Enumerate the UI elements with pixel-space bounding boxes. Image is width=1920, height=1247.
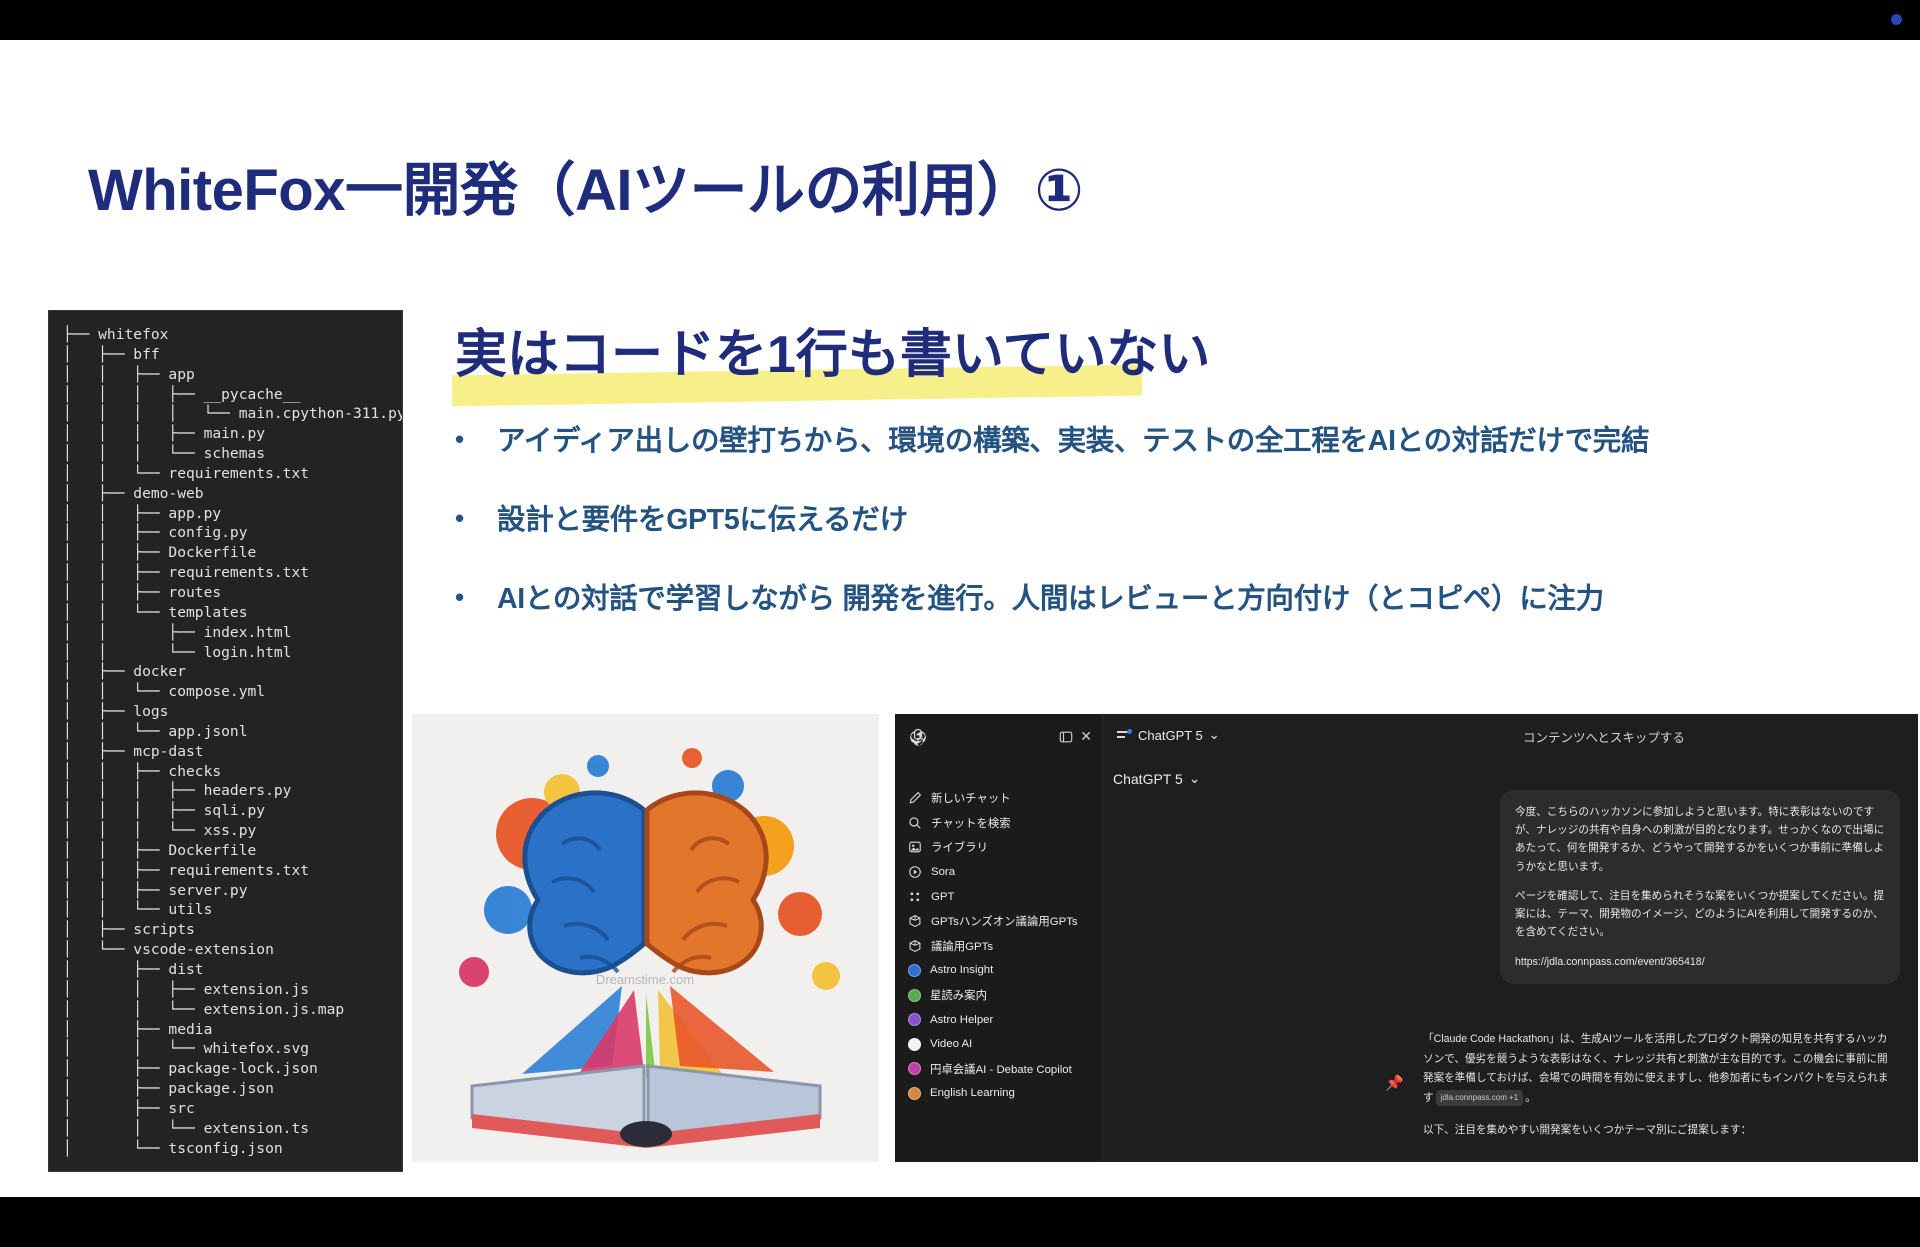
close-icon[interactable]: ✕ xyxy=(1080,728,1092,745)
sidebar-item-label: Sora xyxy=(931,866,955,878)
page-title: WhiteFox一開発（AIツールの利用）① xyxy=(88,143,1083,227)
slide-stage: WhiteFox一開発（AIツールの利用）① ├── whitefox │ ├─… xyxy=(0,0,1920,1247)
sidebar-item-label: 円卓会議AI - Debate Copilot xyxy=(930,1061,1072,1077)
assistant-message: 「Claude Code Hackathon」は、生成AIツールを活用したプロダ… xyxy=(1423,1030,1898,1154)
avatar-icon xyxy=(908,989,921,1002)
chatgpt-sidebar: ✕ 新しいチャットチャットを検索ライブラリSoraGPTGPTsハンズオン議論用… xyxy=(895,714,1103,1162)
avatar-icon xyxy=(908,964,921,977)
sidebar-controls[interactable]: ✕ xyxy=(1059,728,1092,745)
chatgpt-main-panel: ChatGPT 5 ⌄ コンテンツへとスキップする ChatGPT 5 ⌄ 今度… xyxy=(1103,714,1918,1162)
sidebar-item-label: GPT xyxy=(931,891,954,903)
bullet-item-3: • AIとの対話で学習しながら 開発を進行。人間はレビューと方向付け（とコピペ）… xyxy=(455,583,1885,616)
sidebar-item-label: 新しいチャット xyxy=(931,790,1011,806)
sidebar-item-1[interactable]: 新しいチャット xyxy=(895,786,1103,811)
bullet-marker-icon: • xyxy=(455,425,497,455)
sidebar-item-3[interactable]: ライブラリ xyxy=(895,835,1103,860)
sidebar-item-label: Astro Helper xyxy=(930,1014,993,1026)
sidebar-item-13[interactable]: English Learning xyxy=(895,1081,1103,1106)
new-chat-icon xyxy=(908,791,922,805)
brain-illustration-image: Dreamstime.com xyxy=(412,714,879,1162)
bullet-text-1: アイディア出しの壁打ちから、環境の構築、実装、テストの全工程をAIとの対話だけで… xyxy=(497,425,1649,458)
model-selector[interactable]: ChatGPT 5 ⌄ xyxy=(1117,727,1220,743)
brain-book-svg: Dreamstime.com xyxy=(412,714,879,1162)
sidebar-item-label: Video AI xyxy=(930,1038,972,1050)
sidebar-item-6[interactable]: GPTsハンズオン議論用GPTs xyxy=(895,909,1103,934)
sidebar-item-list: 新しいチャットチャットを検索ライブラリSoraGPTGPTsハンズオン議論用GP… xyxy=(895,786,1103,1106)
avatar-icon xyxy=(908,1038,921,1051)
sidebar-item-4[interactable]: Sora xyxy=(895,860,1103,885)
bullet-item-1: • アイディア出しの壁打ちから、環境の構築、実装、テストの全工程をAIとの対話だ… xyxy=(455,425,1885,458)
assistant-para-1: 「Claude Code Hackathon」は、生成AIツールを活用したプロダ… xyxy=(1423,1030,1898,1108)
slide-canvas: WhiteFox一開発（AIツールの利用）① ├── whitefox │ ├─… xyxy=(0,40,1920,1197)
sidebar-toggle-icon[interactable] xyxy=(1059,730,1073,744)
gpt-box-icon xyxy=(908,939,922,953)
sidebar-item-11[interactable]: Video AI xyxy=(895,1032,1103,1057)
sidebar-item-label: チャットを検索 xyxy=(931,815,1011,831)
gpt-grid-icon xyxy=(908,890,922,904)
skip-to-content-link[interactable]: コンテンツへとスキップする xyxy=(1523,727,1685,746)
file-tree-panel: ├── whitefox │ ├── bff │ │ ├── app │ │ │… xyxy=(48,310,403,1172)
bullet-marker-icon: • xyxy=(455,583,497,613)
openai-logo-icon xyxy=(908,727,928,747)
headline-wrapper: 実はコードを1行も書いていない xyxy=(455,312,1210,387)
model-name: ChatGPT 5 xyxy=(1138,728,1203,743)
user-message-bubble: 今度、こちらのハッカソンに参加しようと思います。特に表彰はないのですが、ナレッジ… xyxy=(1500,790,1900,984)
bullet-text-3: AIとの対話で学習しながら 開発を進行。人間はレビューと方向付け（とコピペ）に注… xyxy=(497,583,1604,616)
avatar-icon xyxy=(908,1062,921,1075)
sidebar-item-8[interactable]: Astro Insight xyxy=(895,958,1103,983)
chevron-down-icon[interactable]: ⌄ xyxy=(1209,727,1220,743)
assistant-para-1-post: 。 xyxy=(1525,1092,1536,1104)
sidebar-header: ✕ xyxy=(895,714,1102,760)
bullet-text-2: 設計と要件をGPT5に伝えるだけ xyxy=(497,504,908,537)
sidebar-item-10[interactable]: Astro Helper xyxy=(895,1007,1103,1032)
sidebar-item-label: GPTsハンズオン議論用GPTs xyxy=(931,913,1078,929)
sidebar-item-label: ライブラリ xyxy=(931,839,988,855)
source-chip[interactable]: jdla.connpass.com +1 xyxy=(1436,1090,1524,1107)
avatar-icon xyxy=(908,1087,921,1100)
sidebar-item-5[interactable]: GPT xyxy=(895,884,1103,909)
model-glyph-icon xyxy=(1117,729,1132,741)
avatar-icon xyxy=(908,1013,921,1026)
letterbox-bottom xyxy=(0,1197,1920,1247)
search-icon xyxy=(908,816,922,830)
sidebar-item-label: 星読み案内 xyxy=(930,987,987,1003)
library-icon xyxy=(908,840,922,854)
user-message-para-2: ページを確認して、注目を集められそうな案をいくつか提案してください。提案には、テ… xyxy=(1515,887,1885,942)
chevron-down-icon[interactable]: ⌄ xyxy=(1189,770,1201,787)
sidebar-item-label: 議論用GPTs xyxy=(931,938,993,954)
bullet-marker-icon: • xyxy=(455,504,497,534)
letterbox-top xyxy=(0,0,1920,40)
sidebar-item-12[interactable]: 円卓会議AI - Debate Copilot xyxy=(895,1057,1103,1082)
gpt-box-icon xyxy=(908,914,922,928)
sidebar-item-2[interactable]: チャットを検索 xyxy=(895,811,1103,836)
svg-text:Dreamstime.com: Dreamstime.com xyxy=(596,972,694,987)
sidebar-item-label: English Learning xyxy=(930,1087,1015,1099)
model-subtitle-label: ChatGPT 5 xyxy=(1113,771,1183,787)
bullet-item-2: • 設計と要件をGPT5に伝えるだけ xyxy=(455,504,1885,537)
sidebar-item-label: Astro Insight xyxy=(930,964,993,976)
headline-text: 実はコードを1行も書いていない xyxy=(455,312,1210,387)
corner-dot-indicator xyxy=(1891,14,1902,25)
chatgpt-topbar: ChatGPT 5 ⌄ コンテンツへとスキップする xyxy=(1103,714,1918,758)
file-tree-text: ├── whitefox │ ├── bff │ │ ├── app │ │ │… xyxy=(63,325,392,1158)
chatgpt-screenshot: ✕ 新しいチャットチャットを検索ライブラリSoraGPTGPTsハンズオン議論用… xyxy=(895,714,1918,1162)
sidebar-item-9[interactable]: 星読み案内 xyxy=(895,983,1103,1008)
bullet-list: • アイディア出しの壁打ちから、環境の構築、実装、テストの全工程をAIとの対話だ… xyxy=(455,425,1885,661)
sora-icon xyxy=(908,865,922,879)
pin-icon[interactable]: 📌 xyxy=(1385,1074,1404,1092)
model-subtitle[interactable]: ChatGPT 5 ⌄ xyxy=(1113,770,1201,787)
assistant-para-2: 以下、注目を集めやすい開発案をいくつかテーマ別にご提案します： xyxy=(1423,1121,1898,1141)
sidebar-item-7[interactable]: 議論用GPTs xyxy=(895,934,1103,959)
user-message-para-1: 今度、こちらのハッカソンに参加しようと思います。特に表彰はないのですが、ナレッジ… xyxy=(1515,803,1885,876)
user-message-link[interactable]: https://jdla.connpass.com/event/365418/ xyxy=(1515,953,1885,971)
